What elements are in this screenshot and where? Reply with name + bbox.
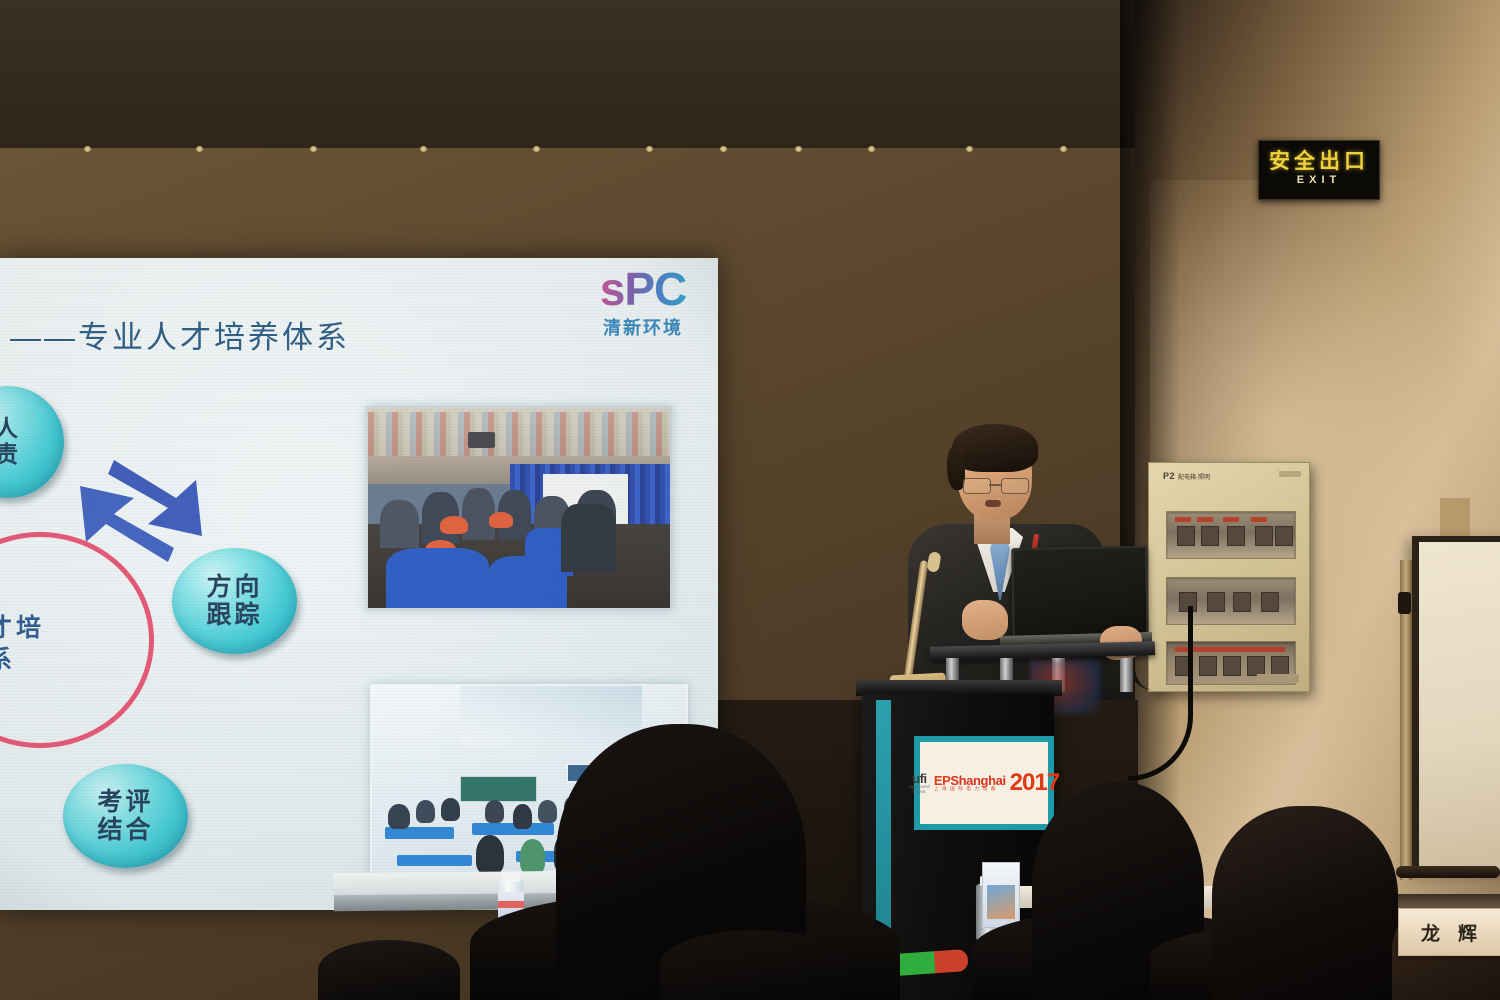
- audience-head: [1212, 806, 1398, 1000]
- spc-logo: sPC 清新环境: [578, 268, 708, 340]
- bubble-direction-line2: 跟踪: [206, 601, 262, 629]
- ep-shanghai-logo: EPShanghai 上 海 国 际 电 力 设 备: [934, 774, 1006, 792]
- bubble-partial-top: 人 责: [0, 386, 64, 498]
- bubble-direction-tracking: 方向 跟踪: [172, 548, 297, 654]
- emergency-exit-sign: 安全出口 EXIT: [1258, 140, 1380, 200]
- spc-wordmark: sPC: [578, 268, 708, 312]
- name-card-given-name: 辉: [1458, 919, 1479, 946]
- table-paper-card: [982, 862, 1020, 928]
- panel-sub-text: 配电箱·照明: [1178, 475, 1210, 481]
- ep-chinese-subtitle: 上 海 国 际 电 力 设 备: [934, 787, 1006, 792]
- podium-event-sign: ufi Approved Event EPShanghai 上 海 国 际 电 …: [914, 736, 1054, 830]
- audience-head: [660, 930, 850, 1000]
- panel-corner-tag: [1279, 471, 1301, 477]
- upper-wall-band: [0, 0, 1150, 150]
- exit-sign-chinese-label: 安全出口: [1269, 151, 1369, 172]
- breaker-row[interactable]: [1166, 511, 1296, 559]
- speaker-left-hand: [962, 600, 1008, 640]
- slide-title: ——专业人才培养体系: [10, 312, 350, 357]
- name-card-surname: 龙: [1421, 919, 1442, 946]
- water-bottle-cap: [502, 872, 520, 882]
- bubble-partial-line2: 责: [0, 442, 21, 468]
- wall-panel-studs: [0, 146, 1135, 154]
- arrow-pair-lower-icon: [142, 906, 262, 910]
- delegate-name-card: 龙 辉: [1398, 908, 1500, 956]
- glasses-icon: [963, 478, 1027, 492]
- bubble-evaluation-line2: 结合: [97, 816, 153, 844]
- speaker-mouth: [985, 500, 1001, 507]
- ufi-event-label: Event: [913, 790, 926, 795]
- bubble-direction-line1: 方向: [206, 573, 262, 601]
- panel-bottom-tag: [1257, 674, 1299, 683]
- whiteboard-knob[interactable]: [1398, 592, 1411, 614]
- panel-id-text: P2: [1163, 471, 1175, 481]
- exit-sign-english-label: EXIT: [1297, 172, 1341, 190]
- bubble-evaluation-line1: 考评: [97, 788, 153, 816]
- whiteboard: [1412, 536, 1500, 872]
- bubble-partial-line1: 人: [0, 416, 21, 442]
- center-ring-label: 人才培体系: [0, 612, 118, 676]
- whiteboard-rail: [1396, 866, 1500, 878]
- name-card-holder: [1398, 894, 1500, 908]
- slide-photo-training-room: [366, 406, 672, 610]
- ufi-logo: ufi Approved Event: [909, 772, 930, 794]
- bubble-evaluation-combined: 考评 结合: [63, 764, 188, 868]
- screenshot-root: 安全出口 EXIT P2配电箱·照明: [0, 0, 1500, 1000]
- event-year-label: 2017: [1010, 771, 1059, 795]
- panel-id-label: P2配电箱·照明: [1163, 471, 1210, 481]
- spc-chinese-name: 清新环境: [578, 314, 708, 340]
- audience-head: [318, 940, 460, 1000]
